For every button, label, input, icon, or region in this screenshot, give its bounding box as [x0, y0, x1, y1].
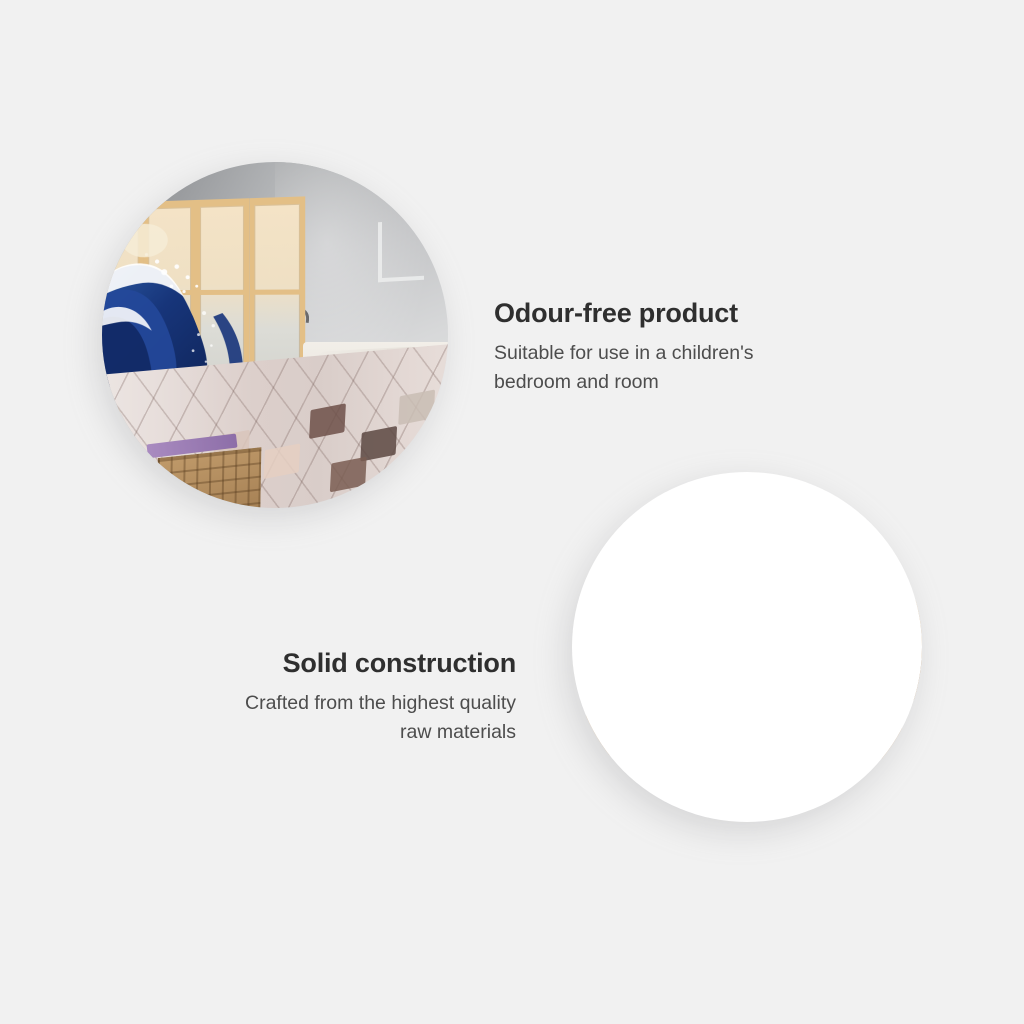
timber-image-circle — [572, 472, 922, 822]
stacked-timber-planks-photo — [572, 472, 922, 822]
infographic-stage: Odour-free product Suitable for use in a… — [0, 0, 1024, 1024]
bedroom-with-folding-screen-photo — [102, 162, 448, 508]
feature-subtitle: Crafted from the highest quality raw mat… — [245, 689, 516, 747]
feature-subtitle: Suitable for use in a children's bedroom… — [494, 339, 754, 397]
white-backdrop — [572, 472, 922, 822]
wicker-basket — [157, 447, 261, 508]
bedroom-image-circle — [102, 162, 448, 508]
feature-odour-free: Odour-free product Suitable for use in a… — [494, 298, 754, 397]
picture-frame-icon — [378, 220, 424, 282]
feature-title: Odour-free product — [494, 298, 754, 330]
feature-solid-construction: Solid construction Crafted from the high… — [245, 648, 516, 747]
feature-title: Solid construction — [245, 648, 516, 680]
